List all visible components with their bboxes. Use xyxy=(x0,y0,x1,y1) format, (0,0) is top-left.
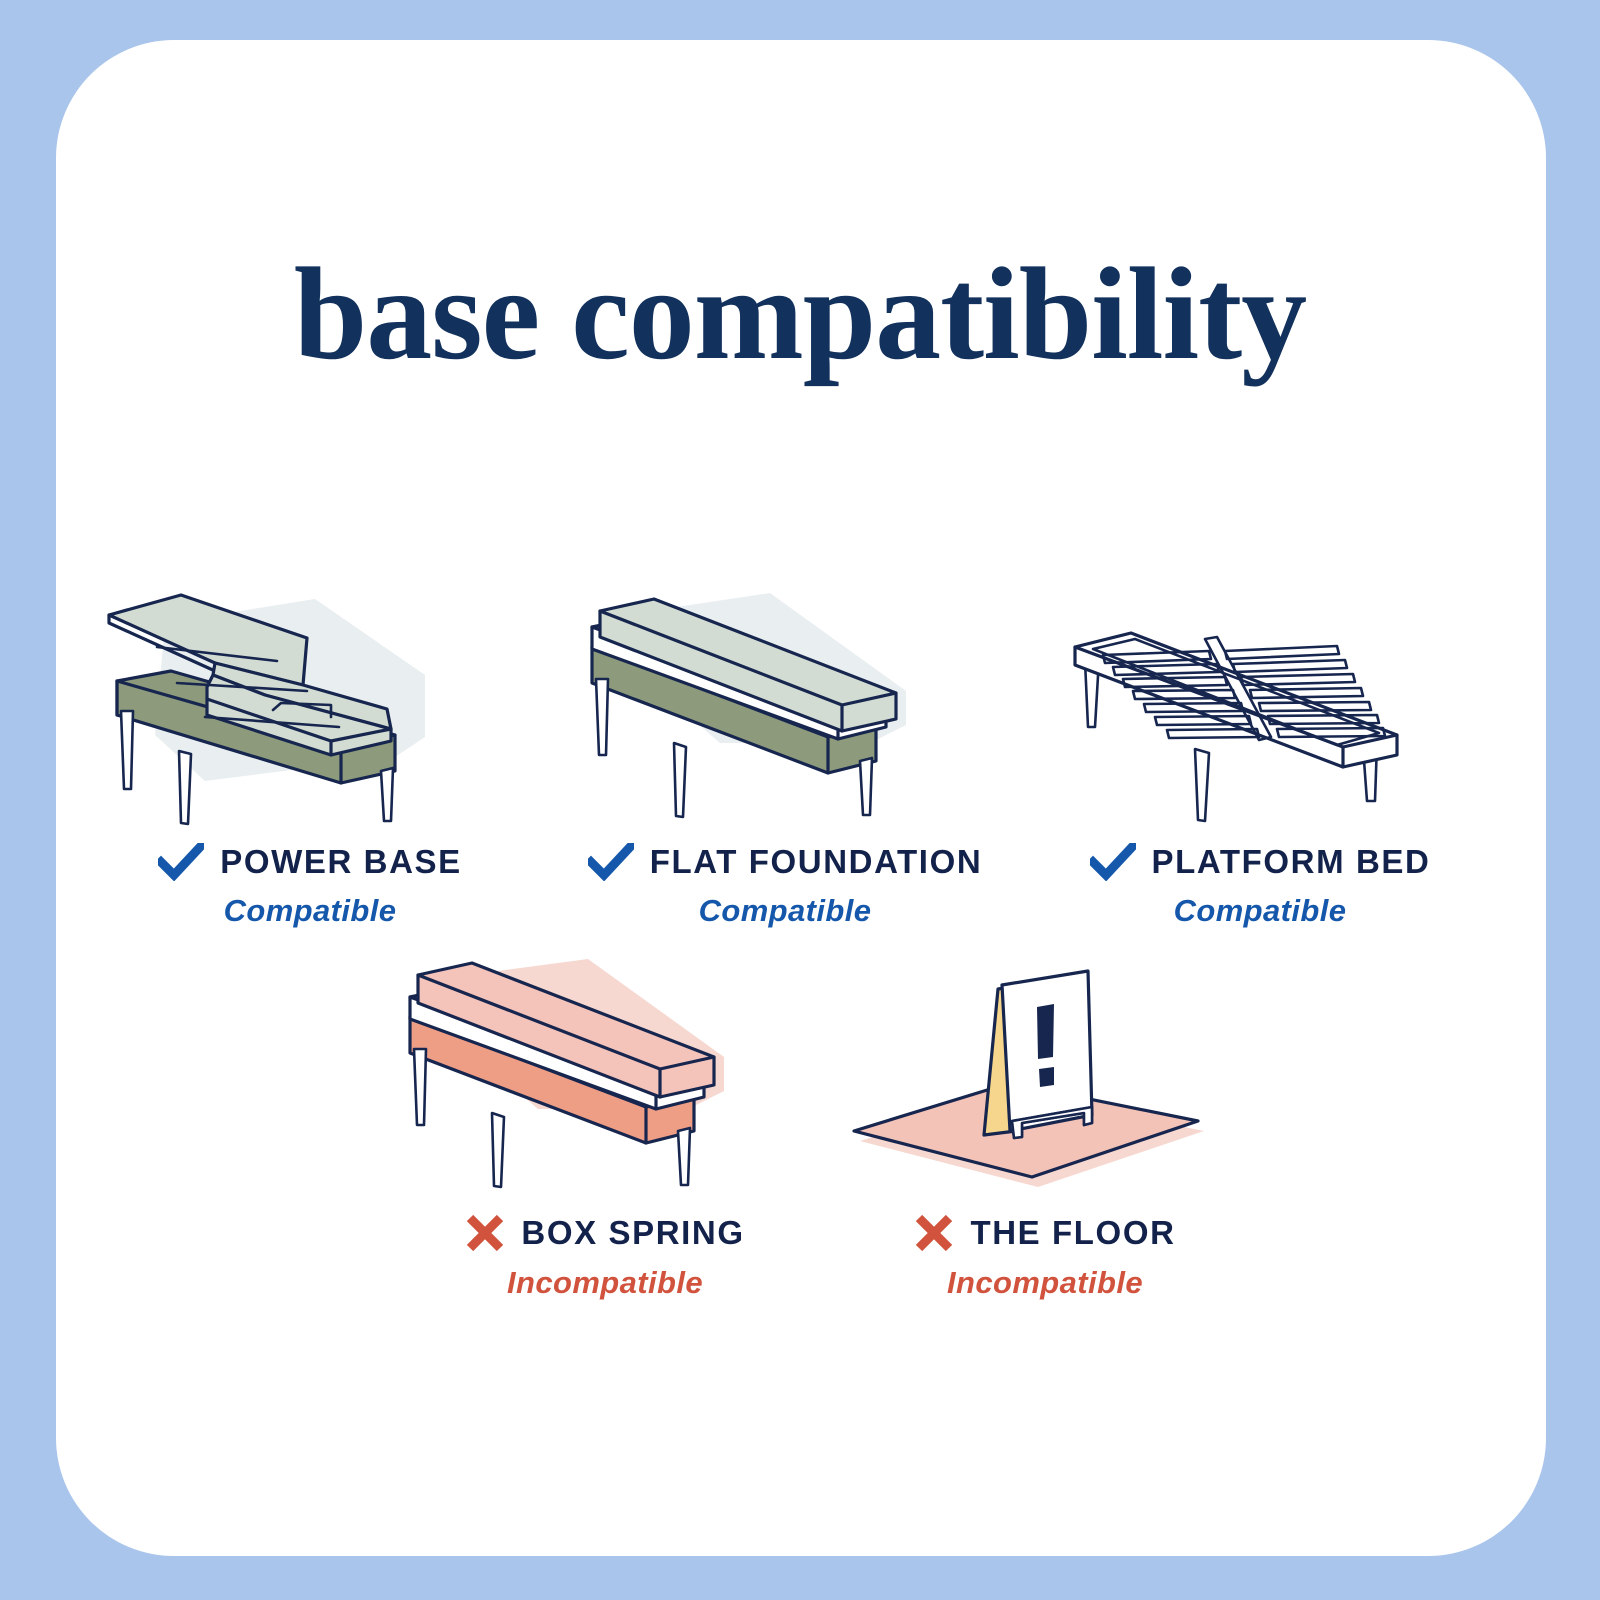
option-status: Compatible xyxy=(570,893,1000,929)
platform-bed-illustration xyxy=(1045,575,1475,835)
power-base-illustration xyxy=(95,575,525,835)
x-icon xyxy=(914,1213,954,1253)
option-status: Compatible xyxy=(95,893,525,929)
option-label: POWER BASE xyxy=(220,843,462,881)
check-icon xyxy=(158,843,204,881)
flat-foundation-label-row: FLAT FOUNDATION xyxy=(570,843,1000,881)
option-the-floor[interactable]: THE FLOOR Incompatible xyxy=(830,945,1260,1301)
platform-bed-label-row: PLATFORM BED xyxy=(1045,843,1475,881)
check-icon xyxy=(588,843,634,881)
option-status: Compatible xyxy=(1045,893,1475,929)
box-spring-label-row: BOX SPRING xyxy=(390,1213,820,1253)
option-flat-foundation[interactable]: FLAT FOUNDATION Compatible xyxy=(570,575,1000,929)
option-label: THE FLOOR xyxy=(970,1214,1175,1252)
option-power-base[interactable]: POWER BASE Compatible xyxy=(95,575,525,929)
option-platform-bed[interactable]: PLATFORM BED Compatible xyxy=(1045,575,1475,929)
check-icon xyxy=(1090,843,1136,881)
power-base-label-row: POWER BASE xyxy=(95,843,525,881)
option-box-spring[interactable]: BOX SPRING Incompatible xyxy=(390,945,820,1301)
the-floor-illustration xyxy=(830,945,1260,1205)
flat-foundation-illustration xyxy=(570,575,1000,835)
option-status: Incompatible xyxy=(390,1265,820,1301)
infographic-canvas: base compatibility xyxy=(0,0,1600,1600)
option-label: PLATFORM BED xyxy=(1152,843,1431,881)
option-status: Incompatible xyxy=(830,1265,1260,1301)
option-label: BOX SPRING xyxy=(521,1214,744,1252)
page-title: base compatibility xyxy=(0,248,1600,380)
box-spring-illustration xyxy=(390,945,820,1205)
the-floor-label-row: THE FLOOR xyxy=(830,1213,1260,1253)
x-icon xyxy=(465,1213,505,1253)
option-label: FLAT FOUNDATION xyxy=(650,843,983,881)
